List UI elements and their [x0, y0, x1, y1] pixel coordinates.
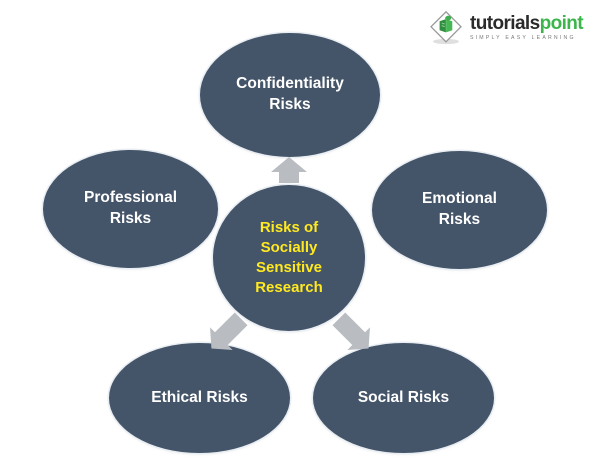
diagram-canvas: tutorialspoint SIMPLY EASY LEARNING Conf…: [0, 0, 600, 471]
node-ethical-risks[interactable]: Ethical Risks: [109, 343, 290, 453]
node-confidentiality-risks[interactable]: Confidentiality Risks: [200, 33, 380, 157]
node-center-risks-of-socially-sensitive-research[interactable]: Risks of Socially Sensitive Research: [213, 185, 365, 331]
tutorialspoint-logo: tutorialspoint SIMPLY EASY LEARNING: [428, 8, 596, 48]
logo-word-point: point: [540, 13, 583, 34]
arrow-up-icon: [262, 155, 316, 187]
tutorialspoint-diamond-book-icon: [428, 10, 464, 46]
logo-tagline: SIMPLY EASY LEARNING: [470, 36, 583, 41]
logo-wordmark: tutorialspoint SIMPLY EASY LEARNING: [470, 14, 583, 41]
node-center-label: Risks of Socially Sensitive Research: [247, 218, 331, 298]
node-professional-risks[interactable]: Professional Risks: [43, 150, 218, 268]
node-label: Professional Risks: [76, 188, 185, 230]
node-emotional-risks[interactable]: Emotional Risks: [372, 151, 547, 269]
node-label: Ethical Risks: [143, 388, 256, 409]
logo-word-tutorials: tutorials: [470, 13, 540, 34]
node-label: Confidentiality Risks: [228, 74, 352, 116]
node-label: Social Risks: [350, 388, 457, 409]
node-social-risks[interactable]: Social Risks: [313, 343, 494, 453]
node-label: Emotional Risks: [414, 189, 505, 231]
logo-words: tutorialspoint: [470, 14, 583, 33]
